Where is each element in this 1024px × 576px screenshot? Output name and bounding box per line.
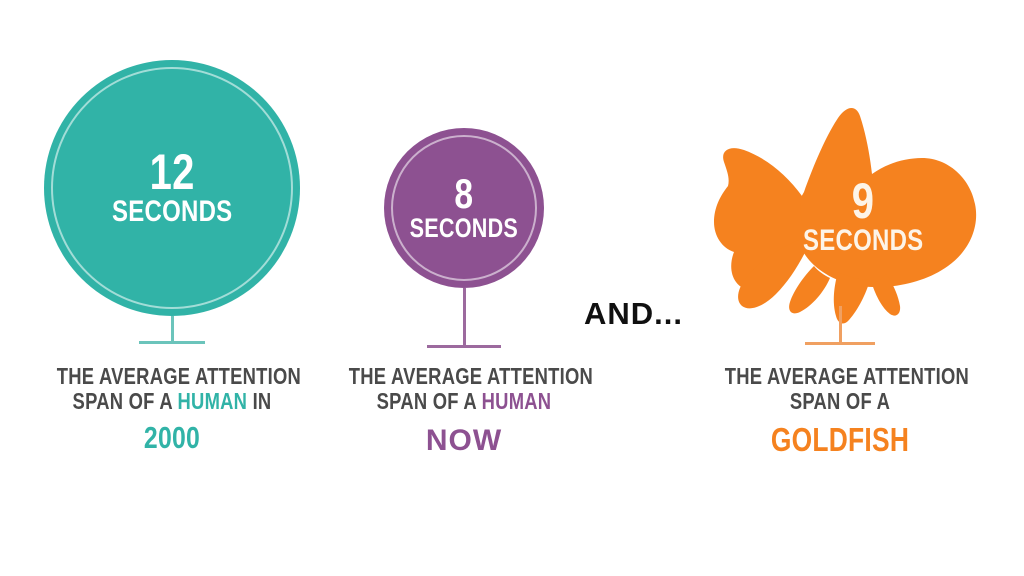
teal-caption-line2-pre: SPAN OF A: [73, 388, 178, 414]
orange-stem-base: [805, 342, 875, 345]
stat-goldfish: 9 SECONDS THE AVERAGE ATTENTION SPAN OF …: [696, 0, 984, 576]
purple-pin-stem: [416, 288, 512, 348]
orange-caption-line2: SPAN OF A: [725, 389, 955, 414]
teal-stem-base: [139, 341, 205, 344]
purple-stem-line: [463, 288, 466, 345]
purple-stem-base: [427, 345, 501, 348]
teal-pin-stem: [124, 316, 220, 344]
purple-circle-badge: 8 SECONDS: [384, 128, 544, 288]
teal-caption-highlight: HUMAN: [178, 388, 248, 414]
orange-caption: THE AVERAGE ATTENTION SPAN OF A GOLDFISH: [696, 364, 984, 460]
teal-caption: THE AVERAGE ATTENTION SPAN OF A HUMAN IN…: [28, 364, 316, 457]
teal-caption-line1: THE AVERAGE ATTENTION: [57, 364, 287, 389]
and-connector-label: AND...: [584, 296, 683, 332]
stat-human-now: 8 SECONDS THE AVERAGE ATTENTION SPAN OF …: [320, 0, 608, 576]
purple-caption-line2-pre: SPAN OF A: [377, 388, 482, 414]
teal-caption-line2: SPAN OF A HUMAN IN: [57, 389, 287, 414]
orange-caption-line1: THE AVERAGE ATTENTION: [725, 364, 955, 389]
orange-caption-line2-pre: SPAN OF A: [790, 388, 890, 414]
teal-unit: SECONDS: [112, 197, 232, 227]
teal-caption-big: 2000: [57, 419, 287, 458]
teal-caption-line2-post: IN: [247, 388, 271, 414]
teal-stem-line: [171, 316, 174, 341]
infographic-canvas: 12 SECONDS THE AVERAGE ATTENTION SPAN OF…: [0, 0, 1024, 576]
purple-caption-big: NOW: [320, 421, 608, 460]
orange-pin-stem: [792, 306, 888, 345]
teal-value: 12: [150, 149, 195, 196]
purple-caption: THE AVERAGE ATTENTION SPAN OF A HUMAN NO…: [320, 364, 608, 460]
purple-caption-line2: SPAN OF A HUMAN: [349, 389, 579, 414]
orange-stem-line: [839, 306, 842, 342]
purple-value: 8: [455, 174, 474, 213]
goldfish-icon: [686, 100, 986, 330]
purple-unit: SECONDS: [410, 215, 519, 242]
purple-caption-line1: THE AVERAGE ATTENTION: [349, 364, 579, 389]
teal-circle-badge: 12 SECONDS: [44, 60, 300, 316]
goldfish-silhouette: 9 SECONDS: [686, 100, 986, 330]
stat-human-2000: 12 SECONDS THE AVERAGE ATTENTION SPAN OF…: [28, 0, 316, 576]
purple-caption-highlight: HUMAN: [482, 388, 552, 414]
orange-caption-big: GOLDFISH: [725, 419, 955, 460]
